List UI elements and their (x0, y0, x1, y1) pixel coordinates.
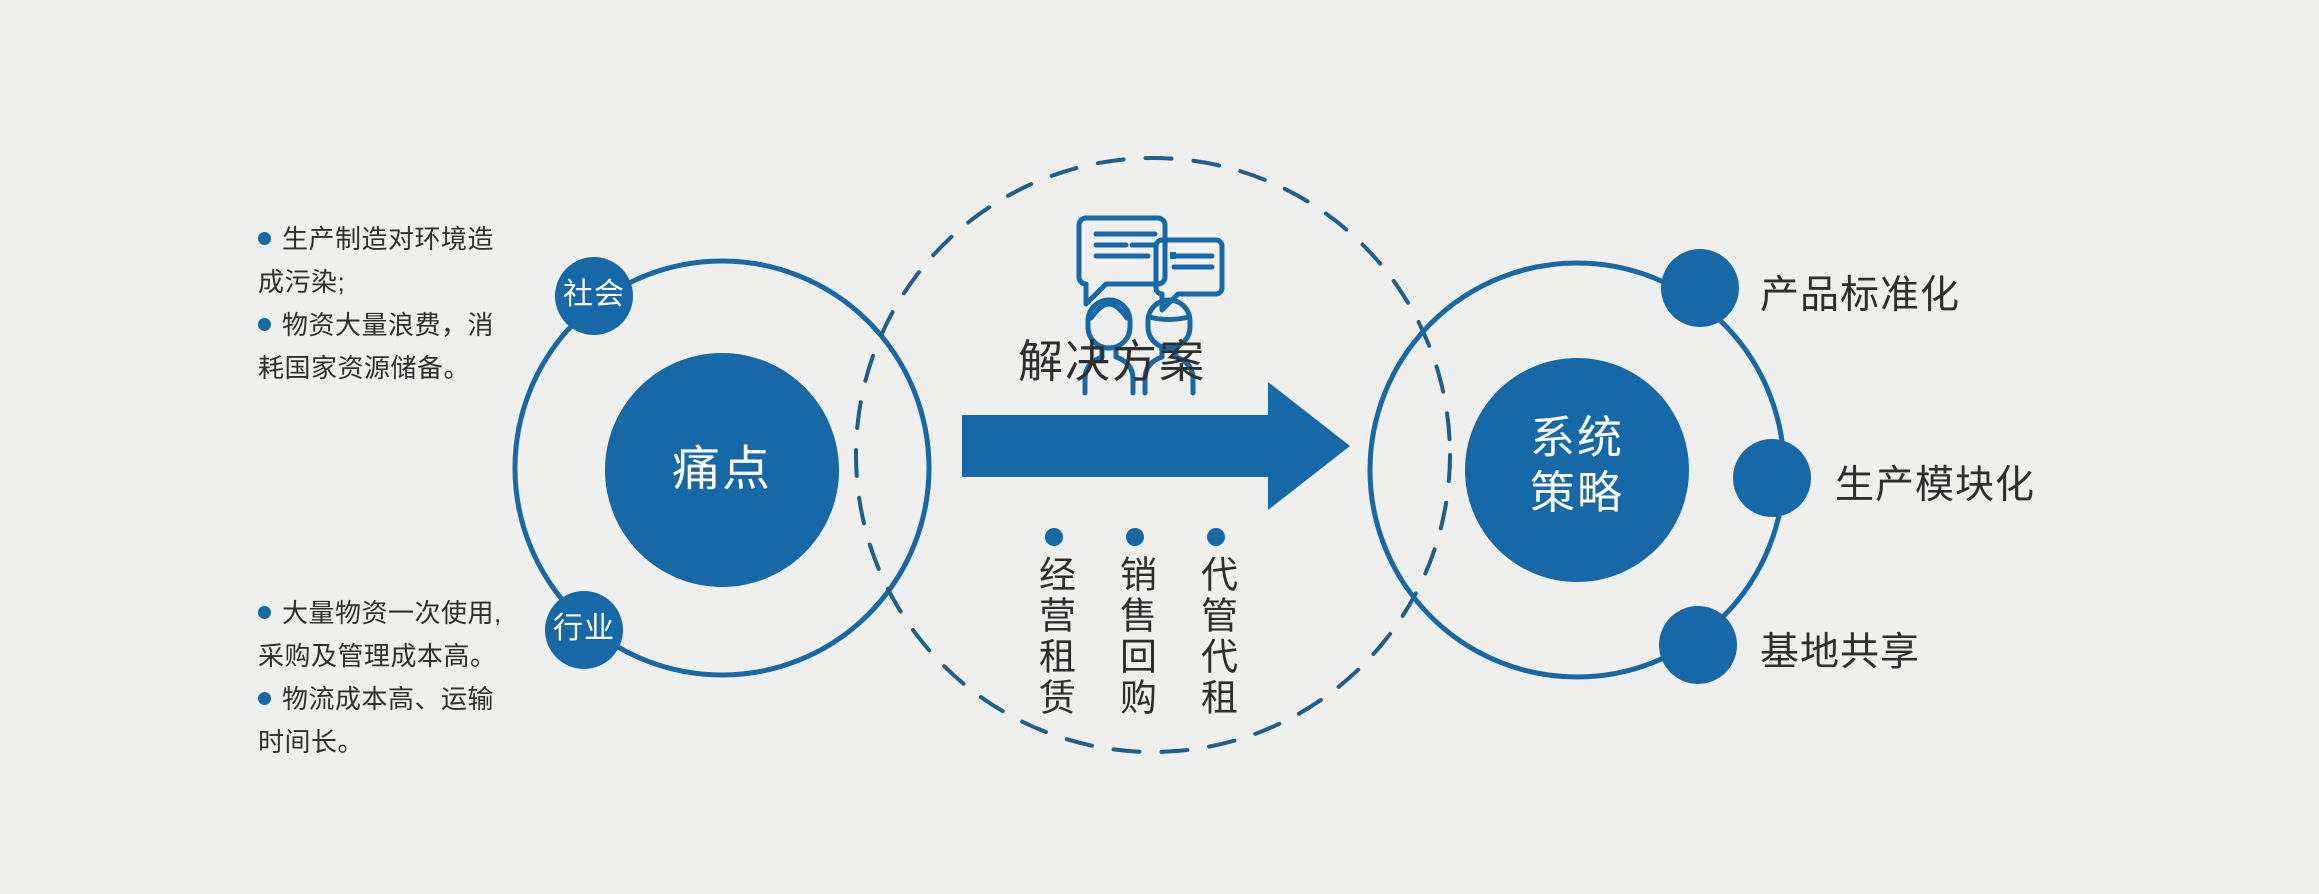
right-arrow-shape (962, 382, 1350, 510)
diagram-canvas: 生产制造对环境造 成污染; 物资大量浪费，消 耗国家资源储备。 大量物资一次使用… (0, 0, 2319, 894)
bullet-line: 时间长。 (258, 721, 558, 764)
bullet-line: 耗国家资源储备。 (258, 347, 558, 390)
bullet-text: 大量物资一次使用, (282, 598, 502, 628)
column-dot-icon (1207, 528, 1225, 546)
bullet-dot-icon (258, 318, 271, 331)
bullet-dot-icon (258, 232, 271, 245)
bullet-text: 生产制造对环境造 (282, 224, 494, 254)
bullet-text: 物资大量浪费，消 (282, 310, 494, 340)
column-text: 销售回购 (1115, 555, 1156, 719)
column-text: 经营租赁 (1034, 555, 1075, 719)
solution-column-lease: 经营租赁 (1026, 528, 1082, 719)
node-society-label: 社会 (534, 278, 654, 313)
node-industry-label: 行业 (524, 612, 644, 647)
pain-core-label: 痛点 (602, 444, 842, 497)
solution-column-buyback: 销售回购 (1107, 528, 1163, 719)
node-production-modularization-circle[interactable] (1733, 439, 1811, 517)
bullet-text: 物流成本高、运输 (282, 684, 494, 714)
strategy-core-label: 系统 策略 (1457, 411, 1697, 521)
bullet-dot-icon (258, 606, 271, 619)
strategy-core-line1: 系统 (1457, 411, 1697, 466)
bullet-line: 成污染; (258, 261, 558, 304)
outcome-label-base-sharing: 基地共享 (1760, 621, 1920, 677)
bullet-line: 生产制造对环境造 (258, 218, 558, 261)
bullet-text: 时间长。 (258, 727, 364, 757)
column-dot-icon (1126, 528, 1144, 546)
outcome-label-production-modularization: 生产模块化 (1835, 454, 2035, 510)
bullet-text: 采购及管理成本高。 (258, 641, 497, 671)
strategy-core-line2: 策略 (1457, 466, 1697, 521)
bullet-text: 成污染; (258, 267, 345, 297)
pain-points-top-block: 生产制造对环境造 成污染; 物资大量浪费，消 耗国家资源储备。 (258, 218, 558, 390)
node-product-standardization-circle[interactable] (1661, 249, 1739, 327)
bullet-line: 物流成本高、运输 (258, 678, 558, 721)
bullet-line: 大量物资一次使用, (258, 592, 558, 635)
bullet-line: 物资大量浪费，消 (258, 304, 558, 347)
outcome-label-product-standardization: 产品标准化 (1760, 264, 1960, 320)
bullet-line: 采购及管理成本高。 (258, 635, 558, 678)
pain-points-bottom-block: 大量物资一次使用, 采购及管理成本高。 物流成本高、运输 时间长。 (258, 592, 558, 764)
solution-column-sublease: 代管代租 (1188, 528, 1244, 719)
bullet-dot-icon (258, 692, 271, 705)
solution-title: 解决方案 (1018, 325, 1206, 390)
node-base-sharing-circle[interactable] (1659, 606, 1737, 684)
bullet-text: 耗国家资源储备。 (258, 353, 470, 383)
column-dot-icon (1045, 528, 1063, 546)
column-text: 代管代租 (1196, 555, 1237, 719)
